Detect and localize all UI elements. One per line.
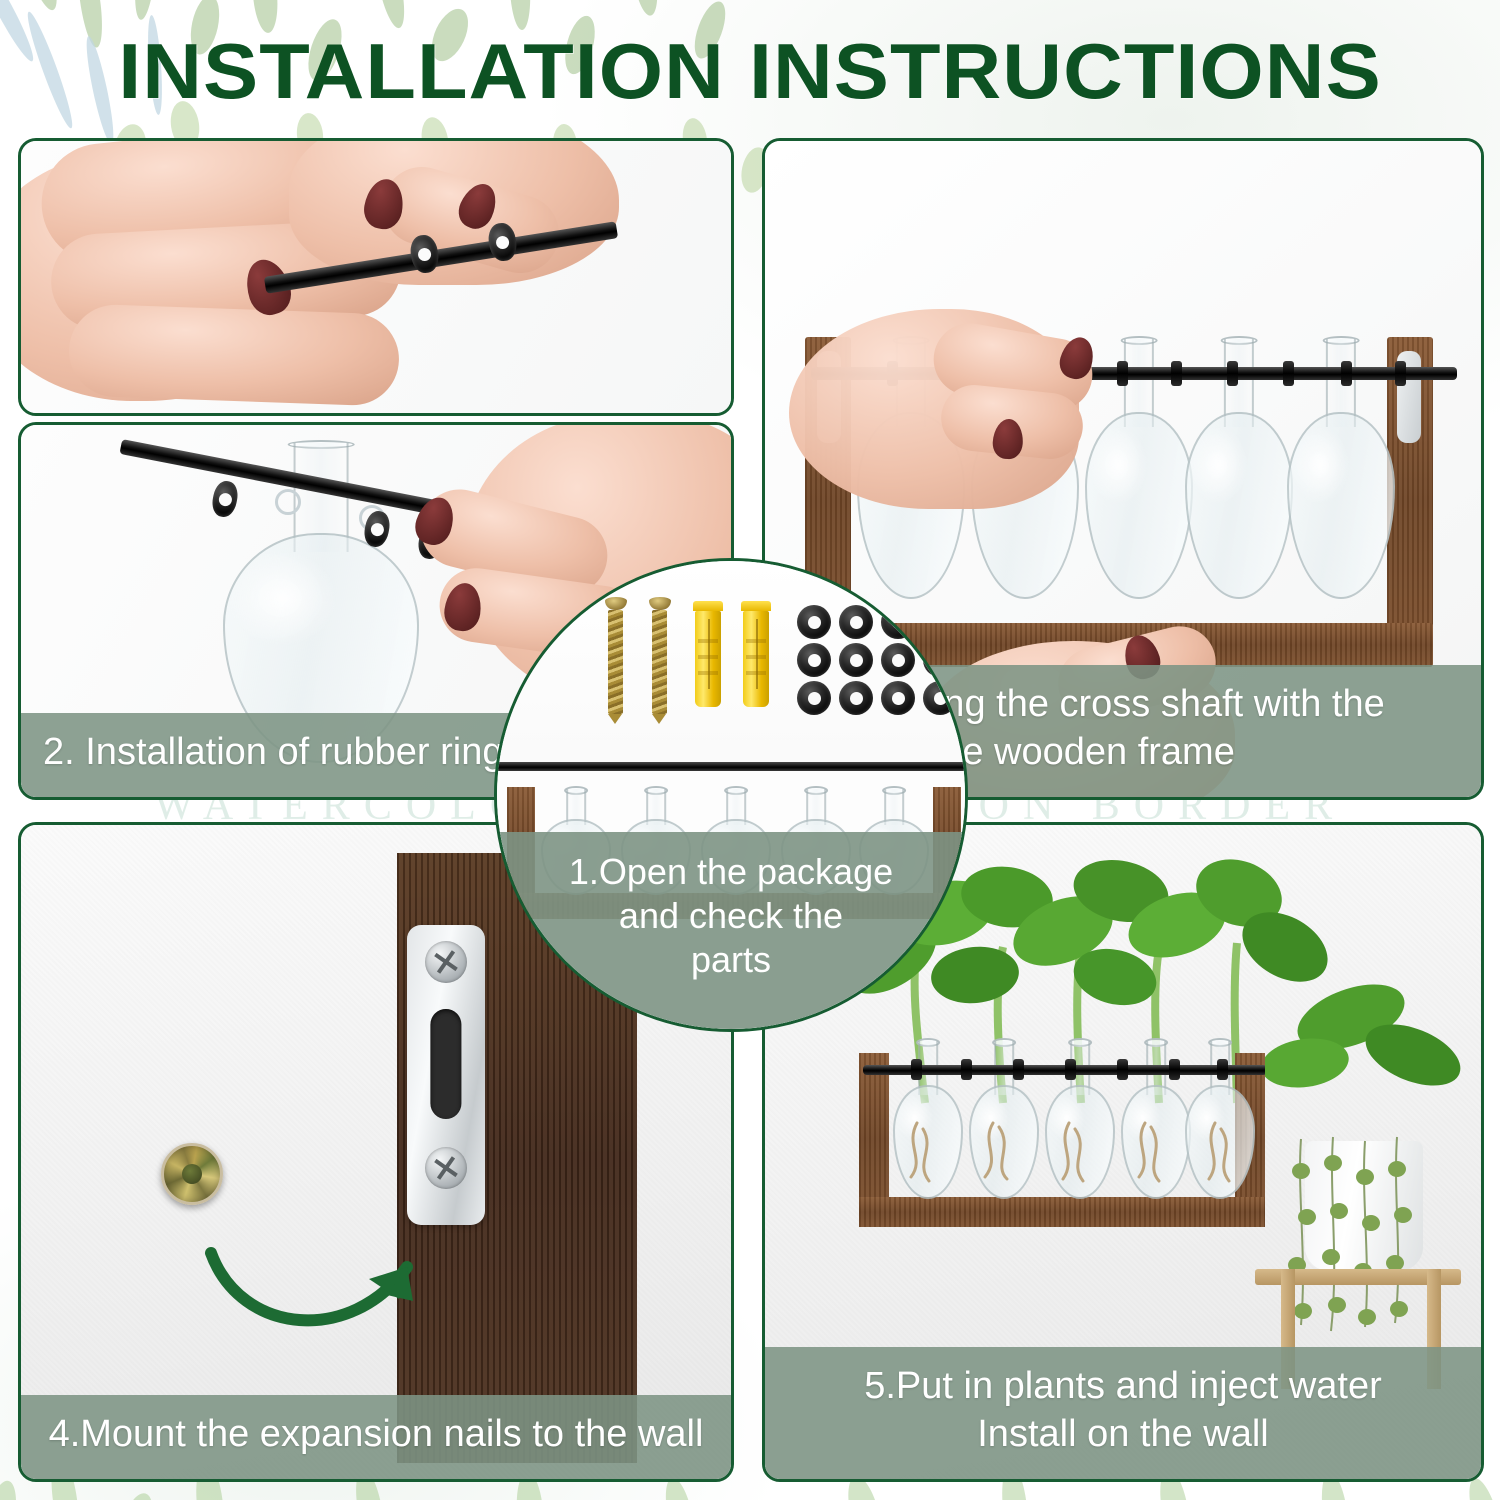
- rod-spacer: [911, 1059, 922, 1080]
- screw-head: [605, 597, 627, 610]
- screw: [649, 599, 669, 724]
- plant-roots: [885, 1115, 1275, 1205]
- step-1-caption-line-1: 1.Open the package: [527, 850, 935, 894]
- vase-bulb: [1287, 412, 1395, 599]
- screw-shaft: [608, 610, 623, 714]
- rod-spacer: [1169, 1059, 1180, 1080]
- screw: [605, 599, 625, 724]
- step-panel-rod-rings: [18, 138, 734, 416]
- step-5-caption-line-1: 5.Put in plants and inject water: [787, 1363, 1459, 1411]
- bracket-screw-top: [425, 941, 467, 983]
- step-panel-1-circle: 1.Open the package and check the parts: [494, 558, 968, 1032]
- rod-spacer: [1283, 361, 1294, 386]
- wall-anchor: [693, 601, 723, 707]
- rod-spacer: [1217, 1059, 1228, 1080]
- rubber-ring: [839, 643, 873, 677]
- anchor-body: [743, 611, 769, 707]
- step-5-caption: 5.Put in plants and inject water Install…: [765, 1347, 1481, 1479]
- anchor-collar: [693, 601, 723, 611]
- rubber-ring: [797, 605, 831, 639]
- page-title: INSTALLATION INSTRUCTIONS: [0, 26, 1500, 117]
- finger-3: [67, 303, 400, 406]
- parts-hardware-area: [497, 561, 965, 762]
- screw-tip: [608, 714, 622, 724]
- keyhole-slot: [430, 1009, 461, 1119]
- rod-spacer: [1341, 361, 1352, 386]
- rod-spacer: [961, 1059, 972, 1080]
- rod-spacer: [1065, 1059, 1076, 1080]
- rod-spacer: [1395, 361, 1406, 386]
- screw-tip: [652, 714, 666, 724]
- rod-spacer: [1117, 361, 1128, 386]
- infographic-canvas: WATERCOLOR ILLUSTRATION BORDER INSTALLAT…: [0, 0, 1500, 1500]
- step-1-caption: 1.Open the package and check the parts: [497, 832, 965, 1029]
- side-plant-foliage: [1265, 945, 1475, 1115]
- mount-direction-arrow: [171, 1145, 471, 1365]
- step-5-caption-line-2: Install on the wall: [787, 1411, 1459, 1459]
- vase-bulb: [1085, 412, 1193, 599]
- step-1-caption-line-2: and check the: [527, 894, 935, 938]
- rubber-ring: [839, 681, 873, 715]
- screw-shaft: [652, 610, 667, 714]
- vase-loop: [275, 489, 301, 515]
- rubber-ring: [797, 643, 831, 677]
- rod-spacer: [1117, 1059, 1128, 1080]
- rubber-ring: [797, 681, 831, 715]
- screw-head: [649, 597, 671, 610]
- rubber-ring: [839, 605, 873, 639]
- rubber-ring: [881, 681, 915, 715]
- rod-spacer: [1013, 1059, 1024, 1080]
- wall-anchor: [741, 601, 771, 707]
- step-1-caption-line-3: parts: [527, 938, 935, 982]
- vase-bulb: [1185, 412, 1293, 599]
- rod-spacer: [1227, 361, 1238, 386]
- scene-rod-in-hands: [21, 141, 731, 413]
- anchor-collar: [741, 601, 771, 611]
- anchor-body: [695, 611, 721, 707]
- rubber-ring: [881, 605, 915, 639]
- step-4-caption: 4.Mount the expansion nails to the wall: [21, 1395, 731, 1479]
- rubber-ring: [881, 643, 915, 677]
- rubber-ring: [923, 681, 957, 715]
- rod-spacer: [1171, 361, 1182, 386]
- cross-shaft-rod: [494, 762, 968, 771]
- rubber-ring: [923, 605, 957, 639]
- rubber-ring: [923, 643, 957, 677]
